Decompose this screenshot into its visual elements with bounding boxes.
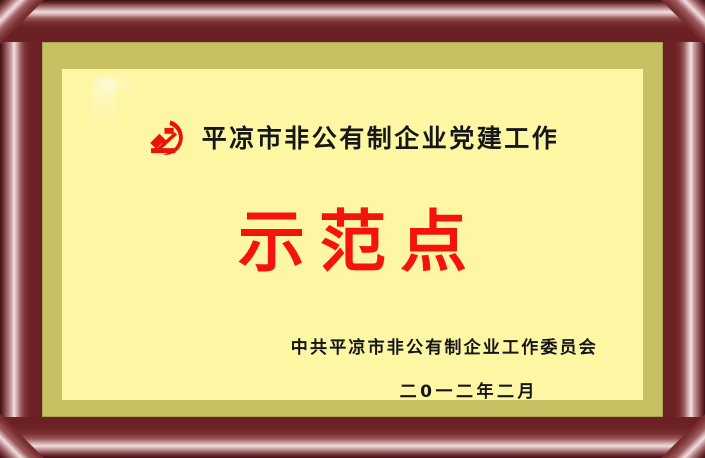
award-designation-text: 示范点: [62, 209, 643, 276]
frame-top-rail: [0, 0, 705, 42]
frame-bottom-rail: [0, 417, 705, 458]
issuing-organization: 中共平凉市非公有制企业工作委员会: [291, 333, 598, 358]
title-row: 平凉市非公有制企业党建工作: [62, 116, 643, 160]
cpc-hammer-sickle-icon: [146, 116, 188, 160]
issue-date: 二0一二年二月: [400, 377, 538, 400]
mat-border: 平凉市非公有制企业党建工作 示范点 中共平凉市非公有制企业工作委员会 二0一二年…: [42, 42, 663, 417]
award-plaque: 平凉市非公有制企业党建工作 示范点 中共平凉市非公有制企业工作委员会 二0一二年…: [0, 0, 705, 458]
plaque-panel: 平凉市非公有制企业党建工作 示范点 中共平凉市非公有制企业工作委员会 二0一二年…: [62, 69, 643, 400]
plaque-title: 平凉市非公有制企业党建工作: [202, 126, 560, 151]
panel-glare-streak: [106, 79, 140, 89]
